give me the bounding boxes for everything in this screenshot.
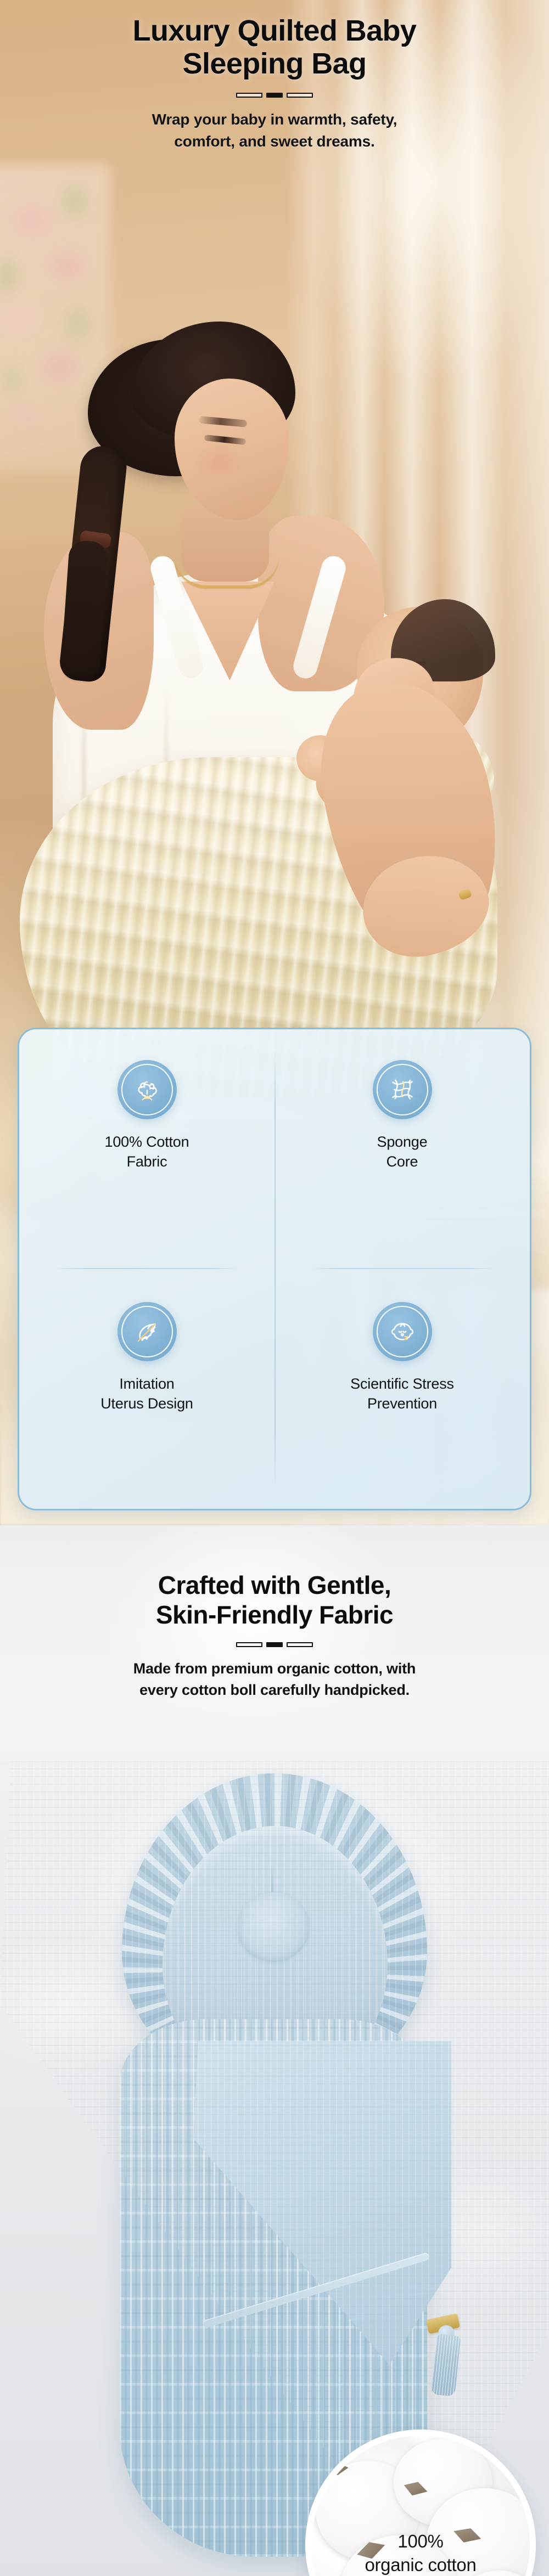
product-landing-page: Luxury Quilted Baby Sleeping Bag Wrap yo… — [0, 0, 549, 2576]
mother-and-baby-photo — [0, 296, 549, 1130]
gold-necklace — [175, 556, 279, 588]
three-bar-divider-icon — [233, 1642, 316, 1647]
section-title-line-2: Skin-Friendly Fabric — [156, 1600, 393, 1629]
hero-header: Luxury Quilted Baby Sleeping Bag Wrap yo… — [0, 0, 549, 152]
feature-label: Sponge Core — [377, 1132, 428, 1171]
section-subtitle: Made from premium organic cotton, with e… — [22, 1658, 527, 1701]
fabric-section: Crafted with Gentle, Skin-Friendly Fabri… — [0, 1525, 549, 2576]
divider-bar-outline-right — [287, 93, 313, 98]
divider-bar-solid-center — [266, 93, 283, 98]
divider-bar-outline-left — [236, 93, 262, 98]
badge-text: 100% organic cotton — [311, 2530, 530, 2576]
feature-panel: 100% Cotton Fabric — [18, 1028, 531, 1510]
page-title: Luxury Quilted Baby Sleeping Bag — [33, 14, 516, 81]
fabric-header: Crafted with Gentle, Skin-Friendly Fabri… — [0, 1525, 549, 1701]
badge-text-line-2: organic cotton — [365, 2555, 476, 2575]
page-title-line-2: Sleeping Bag — [183, 47, 367, 80]
feature-label-line-2: Uterus Design — [100, 1395, 193, 1412]
feature-label-line-1: Sponge — [377, 1134, 428, 1150]
section-subtitle-line-1: Made from premium organic cotton, with — [133, 1660, 416, 1677]
cotton-boll-icon — [117, 1060, 177, 1119]
feature-label-line-1: Imitation — [119, 1376, 174, 1392]
divider-bar-solid-center — [266, 1642, 283, 1647]
section-title: Crafted with Gentle, Skin-Friendly Fabri… — [22, 1570, 527, 1630]
feature-label-line-2: Prevention — [367, 1395, 437, 1412]
badge-text-line-1: 100% — [397, 2531, 443, 2551]
feature-label-line-1: Scientific Stress — [350, 1376, 454, 1392]
sleeping-baby-icon — [373, 1302, 432, 1361]
feature-label-line-2: Fabric — [127, 1153, 167, 1170]
section-subtitle-line-2: every cotton boll carefully handpicked. — [139, 1682, 410, 1698]
feature-label: Scientific Stress Prevention — [350, 1374, 454, 1413]
hero-subtitle: Wrap your baby in warmth, safety, comfor… — [33, 109, 516, 153]
feature-label-line-1: 100% Cotton — [105, 1134, 189, 1150]
divider-bar-outline-left — [236, 1642, 262, 1647]
hero-subtitle-line-2: comfort, and sweet dreams. — [174, 133, 374, 150]
three-bar-divider-icon — [233, 93, 316, 98]
page-title-line-1: Luxury Quilted Baby — [133, 14, 417, 47]
feature-card-imitation-uterus-design[interactable]: Imitation Uterus Design — [19, 1269, 274, 1509]
feature-card-scientific-stress-prevention[interactable]: Scientific Stress Prevention — [274, 1269, 530, 1509]
mesh-grid-icon — [373, 1060, 432, 1119]
feature-card-cotton-fabric[interactable]: 100% Cotton Fabric — [19, 1029, 274, 1269]
section-title-line-1: Crafted with Gentle, — [158, 1571, 391, 1599]
feature-label: Imitation Uterus Design — [100, 1374, 193, 1413]
divider-bar-outline-right — [287, 1642, 313, 1647]
hero-subtitle-line-1: Wrap your baby in warmth, safety, — [152, 111, 397, 128]
mother-cheek — [193, 443, 244, 481]
feature-card-sponge-core[interactable]: Sponge Core — [274, 1029, 530, 1269]
hero-section: Luxury Quilted Baby Sleeping Bag Wrap yo… — [0, 0, 549, 1525]
product-photo: 100% organic cotton — [0, 1761, 549, 2576]
feature-grid: 100% Cotton Fabric — [19, 1029, 530, 1509]
feature-label-line-2: Core — [386, 1153, 418, 1170]
feather-icon — [117, 1302, 177, 1361]
feature-label: 100% Cotton Fabric — [105, 1132, 189, 1171]
